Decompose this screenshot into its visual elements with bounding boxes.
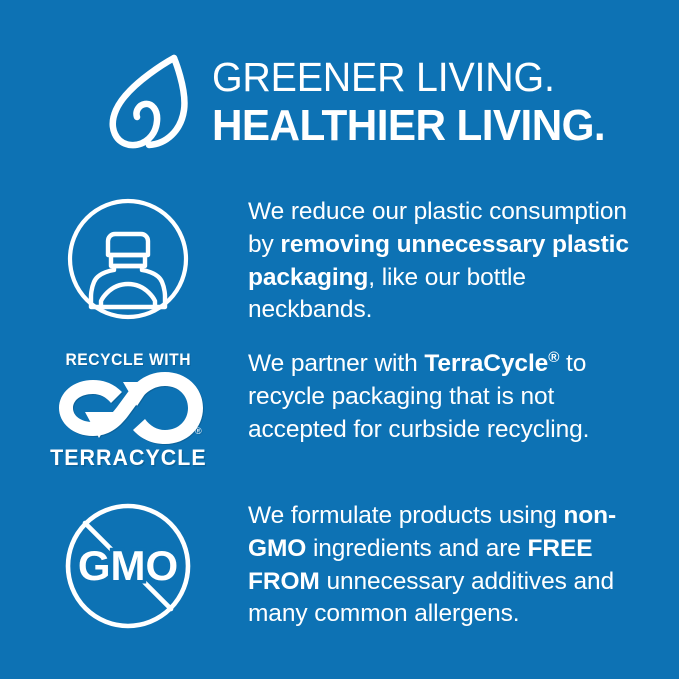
header-text-block: GREENER LIVING. HEALTHIER LIVING. (212, 57, 621, 148)
feature-text-gmo: We formulate products using non-GMO ingr… (248, 500, 655, 631)
header: GREENER LIVING. HEALTHIER LIVING. (0, 44, 679, 160)
header-line-2: HEALTHIER LIVING. (212, 104, 605, 148)
registered-mark: ® (548, 349, 559, 366)
text-segment: ingredients and are (306, 535, 527, 562)
feature-text-plastic: We reduce our plastic consumption by rem… (248, 196, 655, 327)
no-gmo-icon: GMO (62, 500, 194, 632)
text-segment-bold: TerraCycle (424, 350, 548, 377)
bottle-neckband-icon (65, 196, 191, 322)
text-segment: We formulate products using (248, 502, 563, 529)
icon-cell-gmo: GMO (0, 500, 248, 640)
infinity-recycle-arrows-icon: ® (53, 372, 203, 444)
feature-text-terracycle: We partner with TerraCycle® to recycle p… (248, 348, 655, 446)
text-segment: We partner with (248, 350, 424, 377)
icon-cell-terracycle: RECYCLE WITH ® TERRACYCLE (0, 348, 248, 478)
gmo-icon-label: GMO (78, 542, 178, 589)
icon-cell-plastic (0, 196, 248, 326)
text-cell-gmo: We formulate products using non-GMO ingr… (248, 500, 679, 631)
header-line-1: GREENER LIVING. (212, 57, 605, 98)
registered-mark: ® (195, 426, 202, 436)
text-cell-terracycle: We partner with TerraCycle® to recycle p… (248, 348, 679, 446)
feature-row-gmo: GMO We formulate products using non-GMO … (0, 500, 679, 640)
feature-row-plastic: We reduce our plastic consumption by rem… (0, 196, 679, 326)
terracycle-logo-bottom-label: TERRACYCLE (50, 445, 207, 471)
promo-panel: GREENER LIVING. HEALTHIER LIVING. We red… (0, 0, 679, 679)
terracycle-logo: RECYCLE WITH ® TERRACYCLE (53, 350, 203, 471)
text-cell-plastic: We reduce our plastic consumption by rem… (248, 196, 679, 327)
feature-row-terracycle: RECYCLE WITH ® TERRACYCLE We (0, 348, 679, 478)
leaf-icon (104, 52, 200, 152)
terracycle-logo-top-label: RECYCLE WITH (65, 350, 191, 370)
